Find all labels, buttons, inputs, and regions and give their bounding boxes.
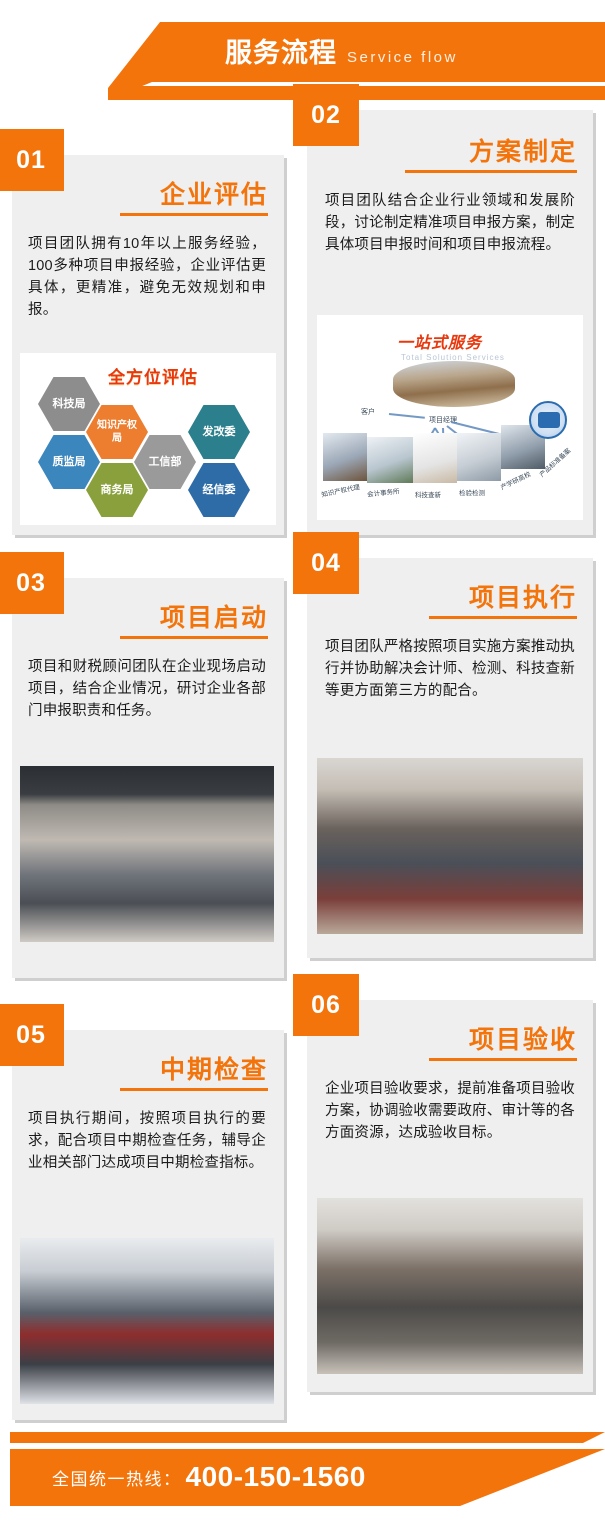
one-stop-leaf-label: 科技查新 [415,489,441,499]
card-title-01: 企业评估 [160,175,268,211]
card-title-rule-01 [120,213,268,216]
hexagon-gongxin-bu: 工信部 [134,435,196,489]
hexagon-label: 知识产权局 [96,419,138,445]
hexagon-shangwu-ju: 商务局 [86,463,148,517]
one-stop-leaf-label: 产学研高校 [498,468,532,491]
step-badge-05: 05 [0,1004,64,1066]
card-title-02: 方案制定 [469,132,577,168]
one-stop-leaf-photo [367,437,413,483]
page-title: 服务流程 [225,36,337,70]
one-stop-node-customer: 客户 [361,407,375,417]
hotline-number[interactable]: 400-150-1560 [186,1461,366,1493]
execution-worksession-photo [317,758,583,934]
card-title-05: 中期检查 [160,1050,268,1086]
step-badge-02: 02 [293,84,359,146]
footer-hotline-group: 全国统一热线： 400-150-1560 [52,1460,366,1494]
hotline-label: 全国统一热线： [52,1465,182,1490]
card-body-04: 项目团队严格按照项目实施方案推动执行并协助解决会计师、检测、科技查新等更方面第三… [325,636,575,702]
hexagon-label: 发改委 [203,426,236,439]
assessment-graphic-title: 全方位评估 [108,363,198,388]
step-badge-04: 04 [293,532,359,594]
one-stop-leaf-photo [457,433,501,481]
one-stop-leaf-label: 检验检测 [459,487,485,497]
one-stop-team-photo [393,361,515,407]
card-body-01: 项目团队拥有10年以上服务经验，100多种项目申报经验，企业评估更具体，更精准，… [28,233,266,321]
assessment-hexagons-graphic: 全方位评估 科技局 知识产权局 质监局 商务局 工信部 发改委 经信委 [20,353,276,525]
card-title-rule-02 [405,170,577,173]
one-stop-leaf-label: 会计事务所 [367,485,400,498]
process-card-06: 06 项目验收 企业项目验收要求，提前准备项目验收方案，协调验收需要政府、审计等… [307,1000,593,1392]
process-card-01: 01 企业评估 项目团队拥有10年以上服务经验，100多种项目申报经验，企业评估… [12,155,284,535]
step-badge-03: 03 [0,552,64,614]
one-stop-service-graphic: 一站式服务 Total Solution Services 客户 项目经理 知识… [317,315,583,520]
hexagon-label: 科技局 [53,398,86,411]
midterm-site-visit-photo [20,1238,274,1404]
header-title-group: 服务流程 Service flow [225,36,458,70]
hexagon-label: 商务局 [101,484,134,497]
hexagon-fagai-wei: 发改委 [188,405,250,459]
step-badge-01: 01 [0,129,64,191]
one-stop-title: 一站式服务 [397,329,482,353]
card-body-03: 项目和财税顾问团队在企业现场启动项目，结合企业情况，研讨企业各部门申报职责和任务… [28,656,266,722]
process-card-02: 02 方案制定 项目团队结合企业行业领域和发展阶段，讨论制定精准项目申报方案，制… [307,110,593,535]
hexagon-label: 工信部 [149,456,182,469]
hexagon-zhijian-ju: 质监局 [38,435,100,489]
hexagon-label: 经信委 [203,484,236,497]
card-title-06: 项目验收 [469,1020,577,1056]
card-title-rule-05 [120,1088,268,1091]
kickoff-meeting-photo [20,766,274,942]
acceptance-meeting-photo [317,1198,583,1374]
hexagon-label: 质监局 [53,456,86,469]
card-body-06: 企业项目验收要求，提前准备项目验收方案，协调验收需要政府、审计等的各方面资源，达… [325,1078,575,1144]
process-card-03: 03 项目启动 项目和财税顾问团队在企业现场启动项目，结合企业情况，研讨企业各部… [12,578,284,978]
page-subtitle: Service flow [347,44,458,72]
hexagon-zhishi-chanquan-ju: 知识产权局 [86,405,148,459]
one-stop-leaf-label: 知识产权代理 [320,481,360,499]
process-card-05: 05 中期检查 项目执行期间，按照项目执行的要求，配合项目中期检查任务，辅导企业… [12,1030,284,1420]
footer-stripe-decoration [10,1432,605,1443]
card-body-05: 项目执行期间，按照项目执行的要求，配合项目中期检查任务，辅导企业相关部门达成项目… [28,1108,266,1174]
card-title-03: 项目启动 [160,598,268,634]
one-stop-arrow [389,413,425,419]
one-stop-leaf-photo [323,433,367,481]
card-title-rule-06 [429,1058,577,1061]
card-title-04: 项目执行 [469,578,577,614]
card-title-rule-04 [429,616,577,619]
step-badge-06: 06 [293,974,359,1036]
one-stop-leaf-photo [413,433,457,483]
hexagon-jingxin-wei: 经信委 [188,463,250,517]
hexagon-keji-ju: 科技局 [38,377,100,431]
card-title-rule-03 [120,636,268,639]
process-card-04: 04 项目执行 项目团队严格按照项目实施方案推动执行并协助解决会计师、检测、科技… [307,558,593,958]
card-body-02: 项目团队结合企业行业领域和发展阶段，讨论制定精准项目申报方案，制定具体项目申报时… [325,190,575,256]
one-stop-certification-seal [529,401,567,439]
